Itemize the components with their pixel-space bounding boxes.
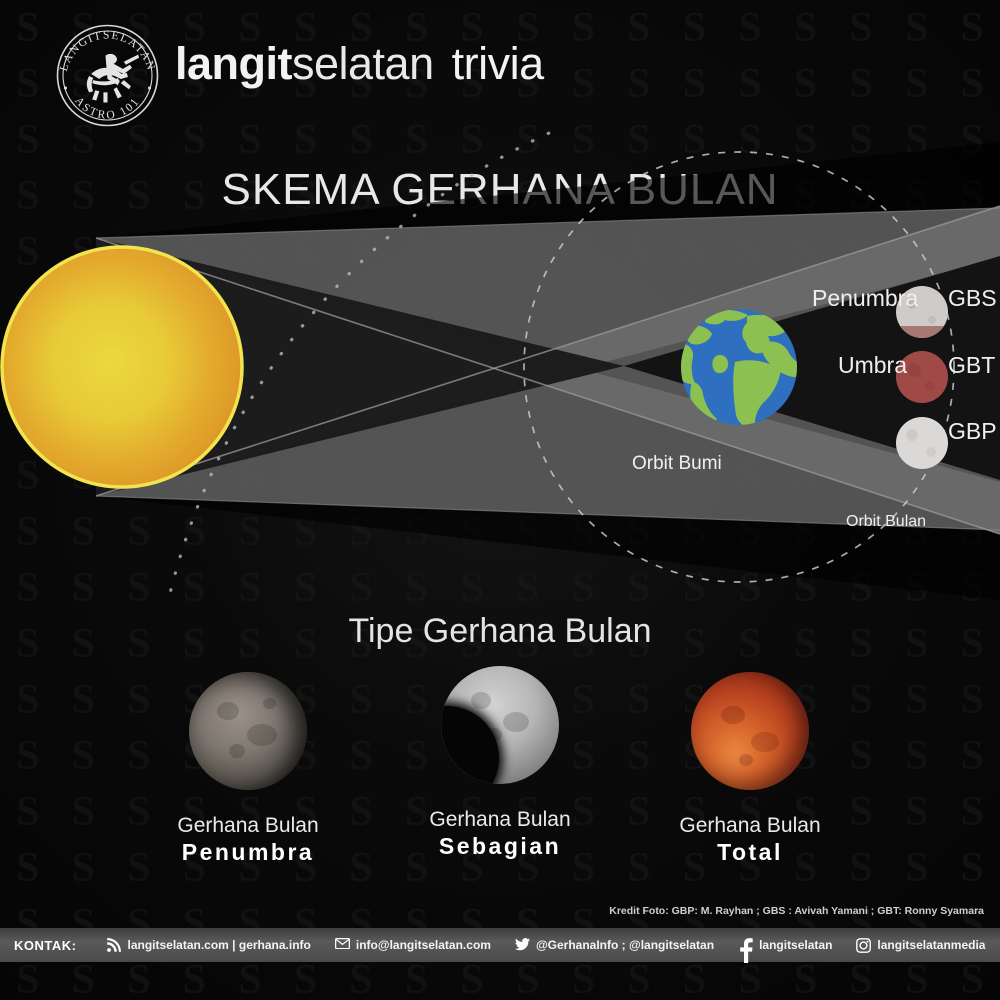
label-orbit-bumi: Orbit Bumi: [632, 453, 722, 475]
brand-title: langitselatantrivia: [175, 38, 544, 90]
total-eclipse-moon-image: [691, 672, 809, 790]
langitselatan-seal-logo: LANGITSELATAN ASTRO 101: [50, 18, 165, 133]
twitter-icon: [515, 938, 530, 953]
card-total-line1: Gerhana Bulan: [600, 814, 900, 838]
label-orbit-bulan: Orbit Bulan: [846, 513, 926, 531]
footer-item-email-text: info@langitselatan.com: [356, 938, 491, 952]
footer-item-twitter[interactable]: @GerhanaInfo ; @langitselatan: [503, 928, 726, 962]
brand-light: selatan: [292, 38, 434, 89]
facebook-icon: [738, 938, 753, 953]
footer-label: KONTAK:: [0, 928, 94, 962]
instagram-icon: [856, 938, 871, 953]
footer-item-website[interactable]: langitselatan.com | gerhana.info: [94, 928, 322, 962]
contact-footer: KONTAK: langitselatan.com | gerhana.info…: [0, 928, 1000, 962]
footer-item-twitter-text: @GerhanaInfo ; @langitselatan: [536, 938, 714, 952]
mail-icon: [335, 938, 350, 953]
footer-item-facebook-text: langitselatan: [759, 938, 832, 952]
penumbral-moon-image: [189, 672, 307, 790]
footer-item-facebook[interactable]: langitselatan: [726, 928, 844, 962]
card-total-line2: Total: [600, 838, 900, 868]
umbra-bite-shadow: [441, 706, 499, 784]
footer-item-instagram-text: langitselatanmedia: [877, 938, 985, 952]
card-total: Gerhana Bulan Total: [600, 672, 900, 868]
footer-item-instagram[interactable]: langitselatanmedia: [844, 928, 997, 962]
marker-label-gbp: GBP: [948, 418, 997, 445]
types-subtitle: Tipe Gerhana Bulan: [0, 612, 1000, 651]
brand-bold: langit: [175, 38, 292, 89]
eclipse-schematic: Penumbra Umbra GBS GBT GBP Orbit Bumi Or…: [0, 130, 1000, 600]
photo-credit: Kredit Foto: GBP: M. Rayhan ; GBS : Aviv…: [609, 905, 984, 917]
marker-label-gbt: GBT: [948, 352, 995, 379]
label-penumbra: Penumbra: [812, 285, 918, 312]
eclipse-type-cards: Gerhana Bulan Penumbra Gerhana Bulan Seb…: [0, 672, 1000, 892]
partial-eclipse-moon-image: [441, 666, 559, 784]
footer-item-website-text: langitselatan.com | gerhana.info: [127, 938, 310, 952]
infographic-root: SSSSSSSSSSSSSSSSSSSSSSSSSSSSSSSSSSSSSSSS…: [0, 0, 1000, 1000]
label-umbra: Umbra: [838, 352, 907, 379]
brand-suffix: trivia: [452, 38, 544, 89]
footer-item-email[interactable]: info@langitselatan.com: [323, 928, 503, 962]
rss-icon: [106, 938, 121, 953]
marker-label-gbs: GBS: [948, 285, 997, 312]
header: LANGITSELATAN ASTRO 101 langitselatant: [0, 0, 1000, 140]
